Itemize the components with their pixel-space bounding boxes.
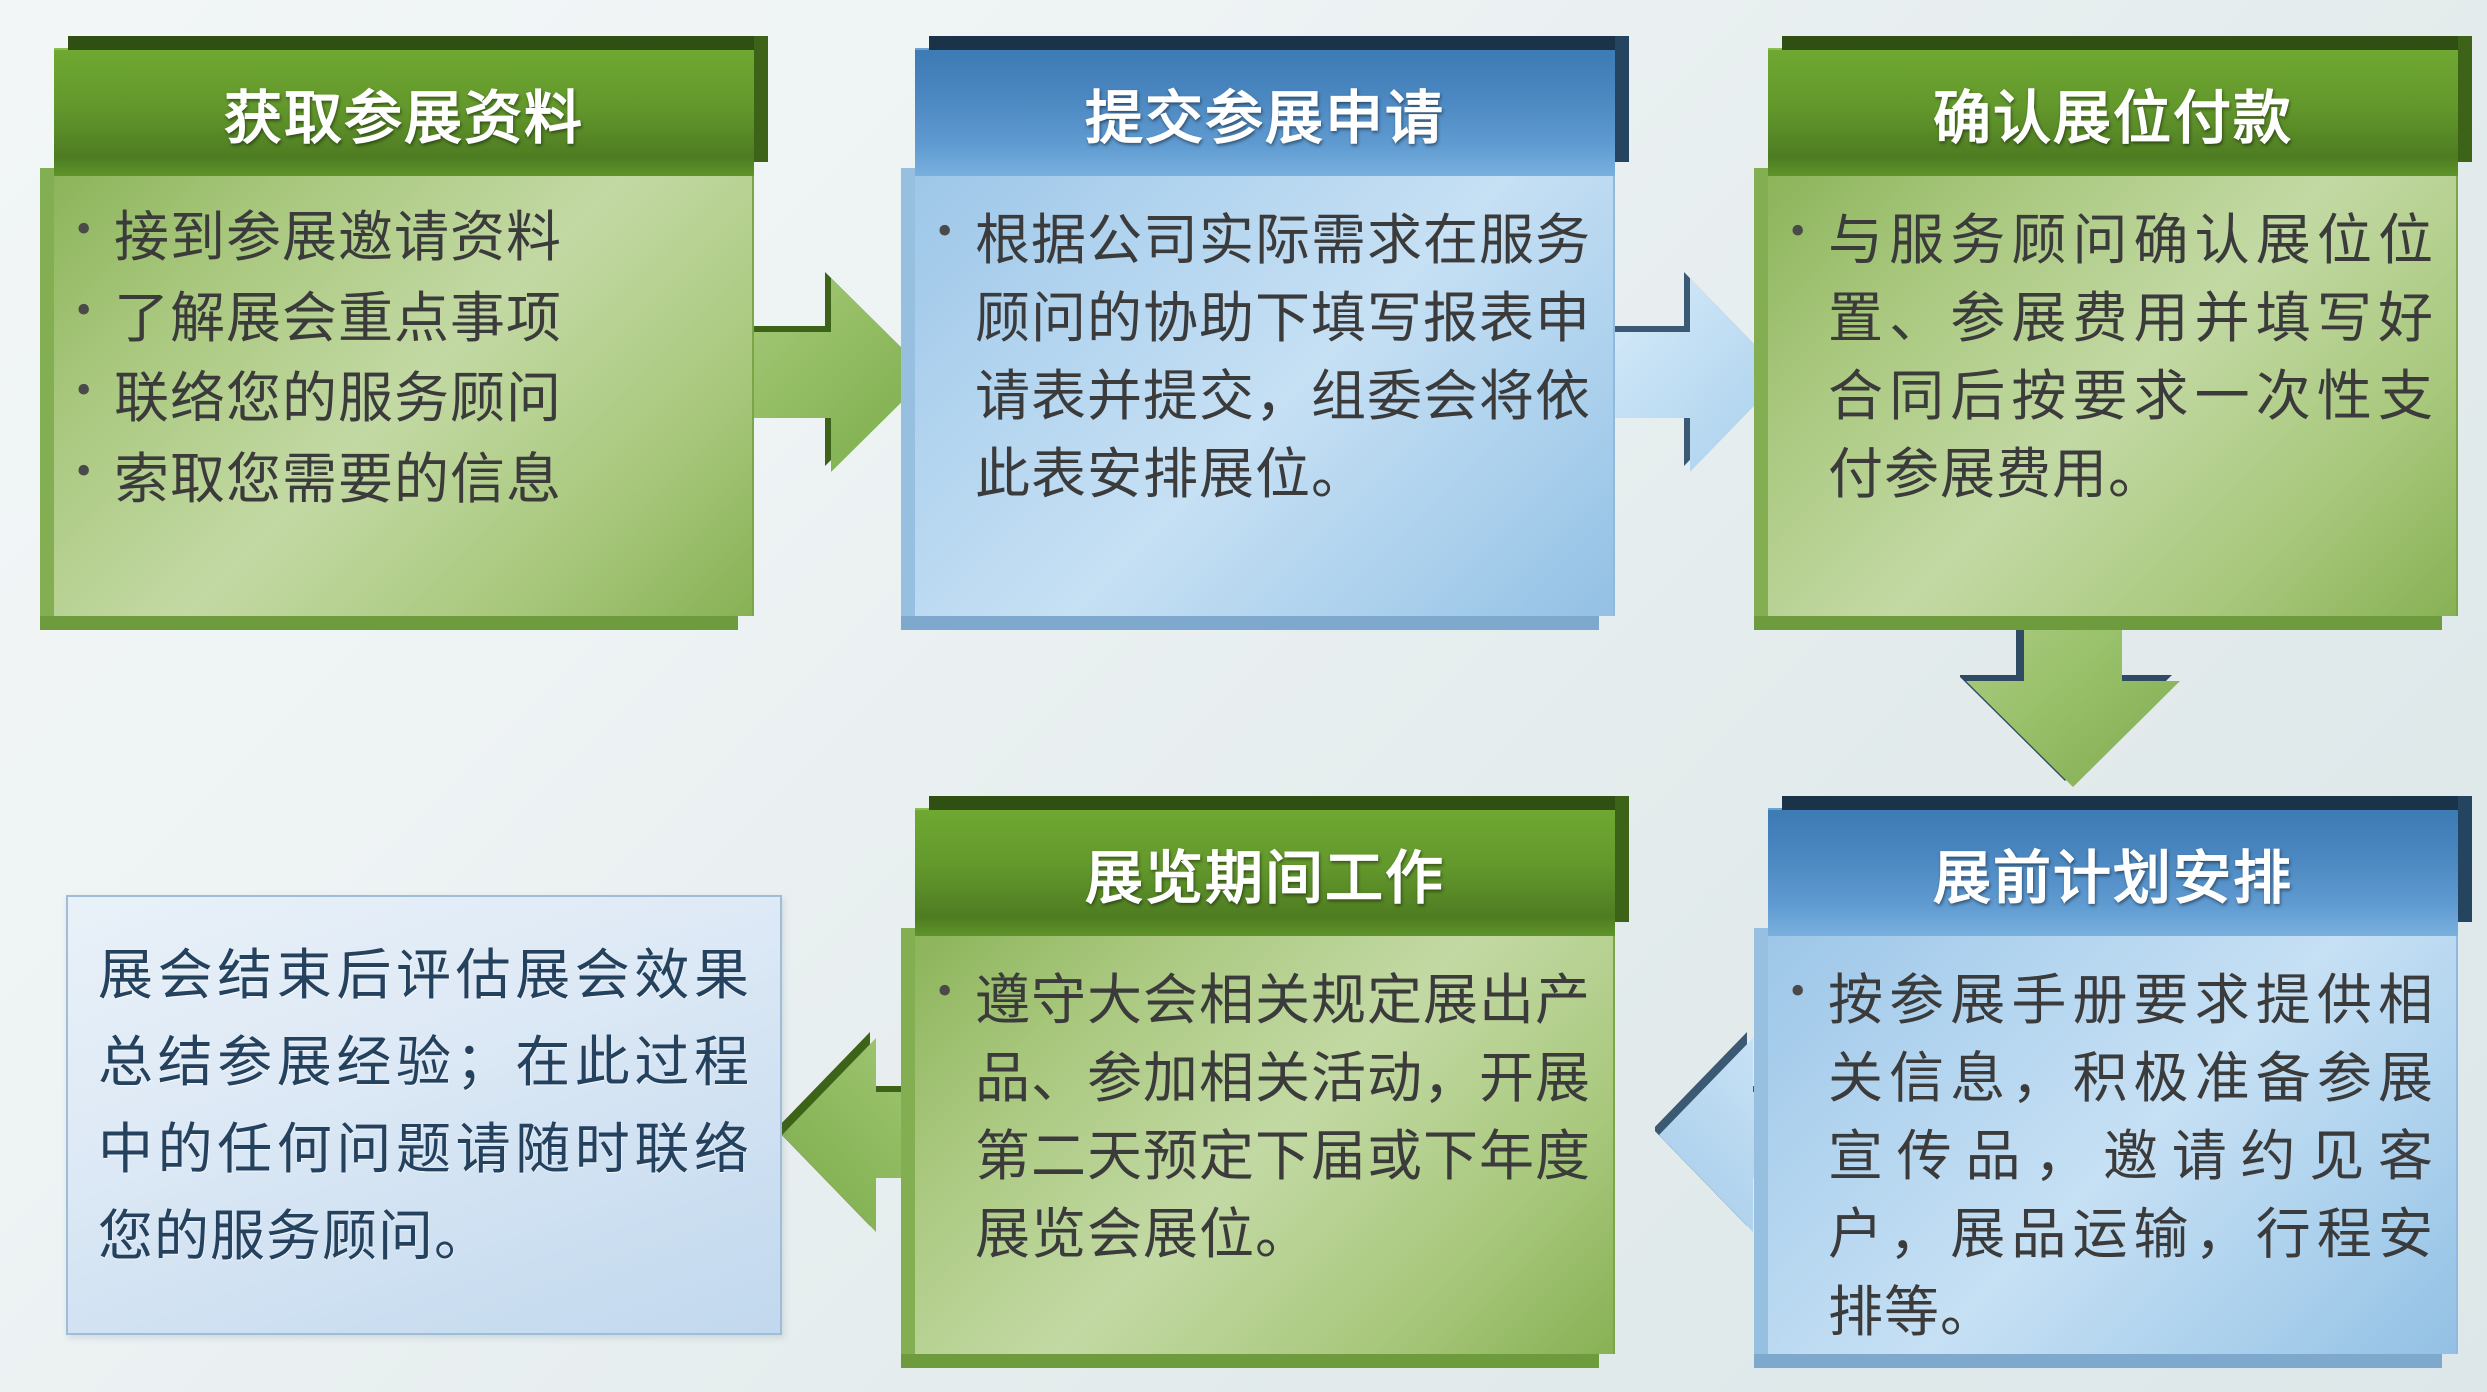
step-1-bullet: 了解展会重点事项	[68, 283, 730, 355]
process-step-4[interactable]: 展前计划安排 按参展手册要求提供相关信息，积极准备参展宣传品，邀请约见客户，展品…	[1768, 808, 2458, 1354]
step-4-bullet-list: 按参展手册要求提供相关信息，积极准备参展宣传品，邀请约见客户，展品运输，行程安排…	[1782, 962, 2434, 1352]
step-2-bullet-list: 根据公司实际需求在服务顾问的协助下填写报表申请表并提交，组委会将依此表安排展位。	[929, 202, 1591, 514]
step-2-bullet: 根据公司实际需求在服务顾问的协助下填写报表申请表并提交，组委会将依此表安排展位。	[929, 202, 1591, 514]
step-2-header-label: 提交参展申请	[1085, 71, 1445, 155]
step-1-bullet: 索取您需要的信息	[68, 444, 730, 516]
step-3-header-label: 确认展位付款	[1933, 71, 2293, 155]
step-1-header: 获取参展资料	[54, 48, 754, 176]
step-4-header: 展前计划安排	[1768, 808, 2458, 936]
step-1-body: 接到参展邀请资料 了解展会重点事项 联络您的服务顾问 索取您需要的信息	[54, 176, 754, 616]
step-3-bullet-list: 与服务顾问确认展位位置、参展费用并填写好合同后按要求一次性支付参展费用。	[1782, 202, 2434, 514]
step-5-header-label: 展览期间工作	[1085, 831, 1445, 915]
flowchart-canvas: 获取参展资料 接到参展邀请资料 了解展会重点事项 联络您的服务顾问 索取您需要的…	[0, 0, 2487, 1392]
step-5-body: 遵守大会相关规定展出产品、参加相关活动，开展第二天预定下届或下年度展览会展位。	[915, 936, 1615, 1354]
process-step-1[interactable]: 获取参展资料 接到参展邀请资料 了解展会重点事项 联络您的服务顾问 索取您需要的…	[54, 48, 754, 616]
step-4-body: 按参展手册要求提供相关信息，积极准备参展宣传品，邀请约见客户，展品运输，行程安排…	[1768, 936, 2458, 1354]
step-2-body: 根据公司实际需求在服务顾问的协助下填写报表申请表并提交，组委会将依此表安排展位。	[915, 176, 1615, 616]
process-step-5[interactable]: 展览期间工作 遵守大会相关规定展出产品、参加相关活动，开展第二天预定下届或下年度…	[915, 808, 1615, 1354]
step-1-bullet-list: 接到参展邀请资料 了解展会重点事项 联络您的服务顾问 索取您需要的信息	[68, 202, 730, 515]
step-1-header-label: 获取参展资料	[224, 71, 584, 155]
step-5-bullet: 遵守大会相关规定展出产品、参加相关活动，开展第二天预定下届或下年度展览会展位。	[929, 962, 1591, 1274]
step-1-bullet: 接到参展邀请资料	[68, 202, 730, 274]
step-2-header: 提交参展申请	[915, 48, 1615, 176]
step-3-bullet: 与服务顾问确认展位位置、参展费用并填写好合同后按要求一次性支付参展费用。	[1782, 202, 2434, 514]
process-step-2[interactable]: 提交参展申请 根据公司实际需求在服务顾问的协助下填写报表申请表并提交，组委会将依…	[915, 48, 1615, 616]
step-5-bullet-list: 遵守大会相关规定展出产品、参加相关活动，开展第二天预定下届或下年度展览会展位。	[929, 962, 1591, 1274]
step-4-bullet: 按参展手册要求提供相关信息，积极准备参展宣传品，邀请约见客户，展品运输，行程安排…	[1782, 962, 2434, 1352]
process-step-3[interactable]: 确认展位付款 与服务顾问确认展位位置、参展费用并填写好合同后按要求一次性支付参展…	[1768, 48, 2458, 616]
step-3-header: 确认展位付款	[1768, 48, 2458, 176]
step-3-body: 与服务顾问确认展位位置、参展费用并填写好合同后按要求一次性支付参展费用。	[1768, 176, 2458, 616]
summary-text: 展会结束后评估展会效果总结参展经验；在此过程中的任何问题请随时联络您的服务顾问。	[98, 933, 750, 1281]
step-5-header: 展览期间工作	[915, 808, 1615, 936]
step-1-bullet: 联络您的服务顾问	[68, 363, 730, 435]
process-step-6-summary[interactable]: 展会结束后评估展会效果总结参展经验；在此过程中的任何问题请随时联络您的服务顾问。	[66, 895, 782, 1335]
step-4-header-label: 展前计划安排	[1933, 831, 2293, 915]
